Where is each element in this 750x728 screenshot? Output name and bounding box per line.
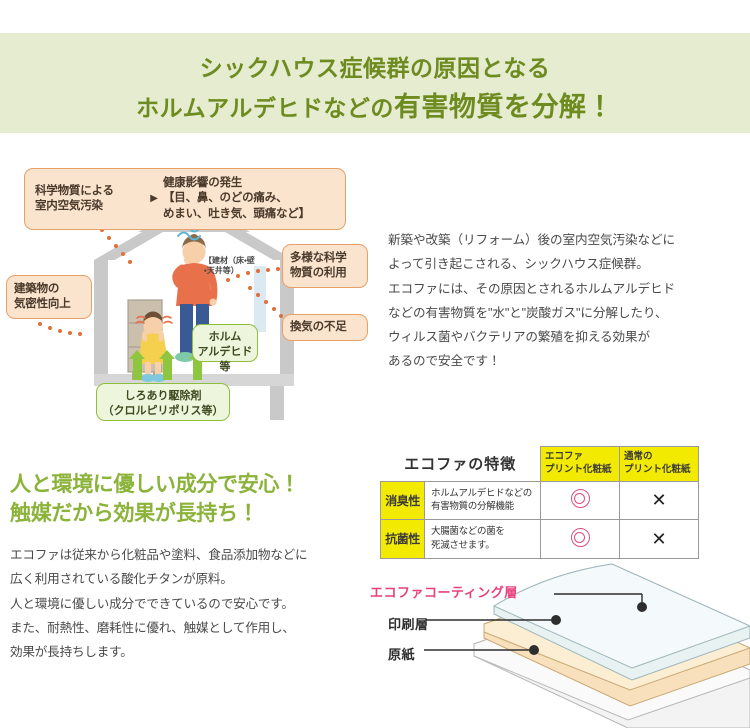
ground-arrow-2 <box>163 358 172 380</box>
callout-diverse-chemicals-line1: 多様な科学 <box>290 251 360 266</box>
building-material-note-line1: 【建材（床・壁 <box>204 256 280 266</box>
table-title: エコファの特徴 <box>381 447 541 482</box>
callout-cause-line2: 室内空気汚染 <box>35 199 145 214</box>
layer-board-illustration <box>366 552 750 728</box>
row-desc-antibacterial-line2: 死滅させます。 <box>431 539 534 553</box>
callout-cause-line1: 科学物質による <box>35 184 145 199</box>
cross-icon: ✕ <box>651 530 666 548</box>
layer-label-base-paper: 原紙 <box>388 644 415 663</box>
safety-paragraph-line5: 効果が長持ちします。 <box>10 640 360 664</box>
table-column-eco-line2: プリント化粧紙 <box>545 464 615 477</box>
row-desc-antibacterial-line1: 大腸菌などの菌を <box>431 525 534 539</box>
intro-paragraph-line4: などの有害物質を"水"と"炭酸ガス"に分解したり、 <box>388 301 738 325</box>
header-title-line2-suffix: を分解！ <box>504 92 614 122</box>
callout-insufficient-ventilation-line1: 換気の不足 <box>290 320 360 335</box>
building-material-note: 【建材（床・壁 ・天井等） <box>204 256 280 277</box>
callout-diverse-chemicals: 多様な科学 物質の利用 <box>282 244 368 288</box>
header-banner: シックハウス症候群の原因となる ホルムアルデヒドなどの有害物質を分解！ <box>0 33 750 133</box>
row-mark-deodorizing-eco <box>541 481 620 520</box>
header-title-line1: シックハウス症候群の原因となる <box>0 49 750 83</box>
intro-paragraph-line6: あるので安全です！ <box>388 349 738 373</box>
callout-airtightness-line2: 気密性向上 <box>14 297 84 312</box>
callout-effect-line2: 【目、鼻、のどの痛み、 <box>163 191 335 206</box>
table-column-normal-line1: 通常の <box>624 451 694 464</box>
double-circle-icon <box>571 528 590 547</box>
layer-label-print: 印刷層 <box>388 614 429 633</box>
table-column-normal-line2: プリント化粧紙 <box>624 464 694 477</box>
header-title-line2-prefix: ホルムアルデヒドなどの <box>136 95 394 121</box>
row-desc-deodorizing-line1: ホルムアルデヒドなどの <box>431 487 534 501</box>
safety-paragraph-line3: 人と環境に優しい成分でできているので安心です。 <box>10 592 360 616</box>
double-circle-icon <box>571 489 590 508</box>
intro-paragraph-line2: よって引き起こされる、シックハウス症候群。 <box>388 252 738 276</box>
green-box-formaldehyde-line2: アルデヒド等 <box>195 345 255 375</box>
safety-paragraph-line2: 広く利用されている酸化チタンが原料。 <box>10 567 360 591</box>
callout-airtightness: 建築物の 気密性向上 <box>6 275 92 319</box>
layer-label-coating: エコファコーティング層 <box>370 582 518 601</box>
layer-structure-diagram: エコファコーティング層 印刷層 原紙 <box>366 552 750 728</box>
row-mark-deodorizing-normal: ✕ <box>620 481 699 520</box>
safety-heading-line1: 人と環境に優しい成分で安心！ <box>10 470 360 499</box>
safety-heading: 人と環境に優しい成分で安心！ 触媒だから効果が長持ち！ <box>10 470 360 529</box>
intro-paragraph: 新築や改築（リフォーム）後の室内空気汚染などに よって引き起こされる、シックハウ… <box>388 228 738 374</box>
safety-paragraph-line4: また、耐熱性、磨耗性に優れ、触媒として作用し、 <box>10 616 360 640</box>
green-box-termite-agent-line1: しろあり駆除剤 <box>99 389 227 404</box>
safety-heading-line2: 触媒だから効果が長持ち！ <box>10 499 360 528</box>
cross-icon: ✕ <box>651 491 666 509</box>
green-box-termite-agent: しろあり駆除剤 （クロルピリポリス等） <box>96 383 230 421</box>
header-title-line2-emphasis: 有害物質 <box>394 92 504 122</box>
row-desc-deodorizing: ホルムアルデヒドなどの 有害物質の分解機能 <box>425 481 541 520</box>
sick-house-diagram: 科学物質による 室内空気汚染 ▶ 健康影響の発生 【目、鼻、のどの痛み、 めまい… <box>8 160 380 425</box>
callout-airtightness-line1: 建築物の <box>14 282 84 297</box>
callout-diverse-chemicals-line2: 物質の利用 <box>290 266 360 281</box>
row-label-deodorizing: 消臭性 <box>381 481 425 520</box>
safety-paragraph: エコファは従来から化粧品や塗料、食品添加物などに 広く利用されている酸化チタンが… <box>10 543 360 664</box>
callout-effect-line3: めまい、吐き気、頭痛など】 <box>163 207 335 222</box>
green-box-formaldehyde: ホルム アルデヒド等 <box>192 324 258 362</box>
safety-paragraph-line1: エコファは従来から化粧品や塗料、食品添加物などに <box>10 543 360 567</box>
ground-arrow-1 <box>133 358 142 380</box>
callout-effect-line1: 健康影響の発生 <box>163 176 335 191</box>
row-desc-deodorizing-line2: 有害物質の分解機能 <box>431 500 534 514</box>
callout-insufficient-ventilation: 換気の不足 <box>282 314 368 341</box>
table-column-eco-line1: エコファ <box>545 451 615 464</box>
header-title-line2: ホルムアルデヒドなどの有害物質を分解！ <box>0 85 750 124</box>
intro-paragraph-line5: ウィルス菌やバクテリアの繁殖を抑える効果が <box>388 325 738 349</box>
green-box-termite-agent-line2: （クロルピリポリス等） <box>99 404 227 419</box>
intro-paragraph-line3: エコファには、その原因とされるホルムアルデヒド <box>388 277 738 301</box>
feature-comparison-table: エコファの特徴 エコファ プリント化粧紙 通常の プリント化粧紙 消臭性 ホルム… <box>380 446 698 559</box>
building-material-note-line2: ・天井等） <box>204 266 280 276</box>
intro-paragraph-line1: 新築や改築（リフォーム）後の室内空気汚染などに <box>388 228 738 252</box>
callout-chemical-pollution: 科学物質による 室内空気汚染 ▶ 健康影響の発生 【目、鼻、のどの痛み、 めまい… <box>24 168 346 230</box>
table-column-eco: エコファ プリント化粧紙 <box>541 447 620 482</box>
table-header-row: エコファの特徴 エコファ プリント化粧紙 通常の プリント化粧紙 <box>381 447 699 482</box>
right-triangle-icon: ▶ <box>145 192 163 205</box>
table-row: 消臭性 ホルムアルデヒドなどの 有害物質の分解機能 ✕ <box>381 481 699 520</box>
green-box-formaldehyde-line1: ホルム <box>195 330 255 345</box>
table-column-normal: 通常の プリント化粧紙 <box>620 447 699 482</box>
